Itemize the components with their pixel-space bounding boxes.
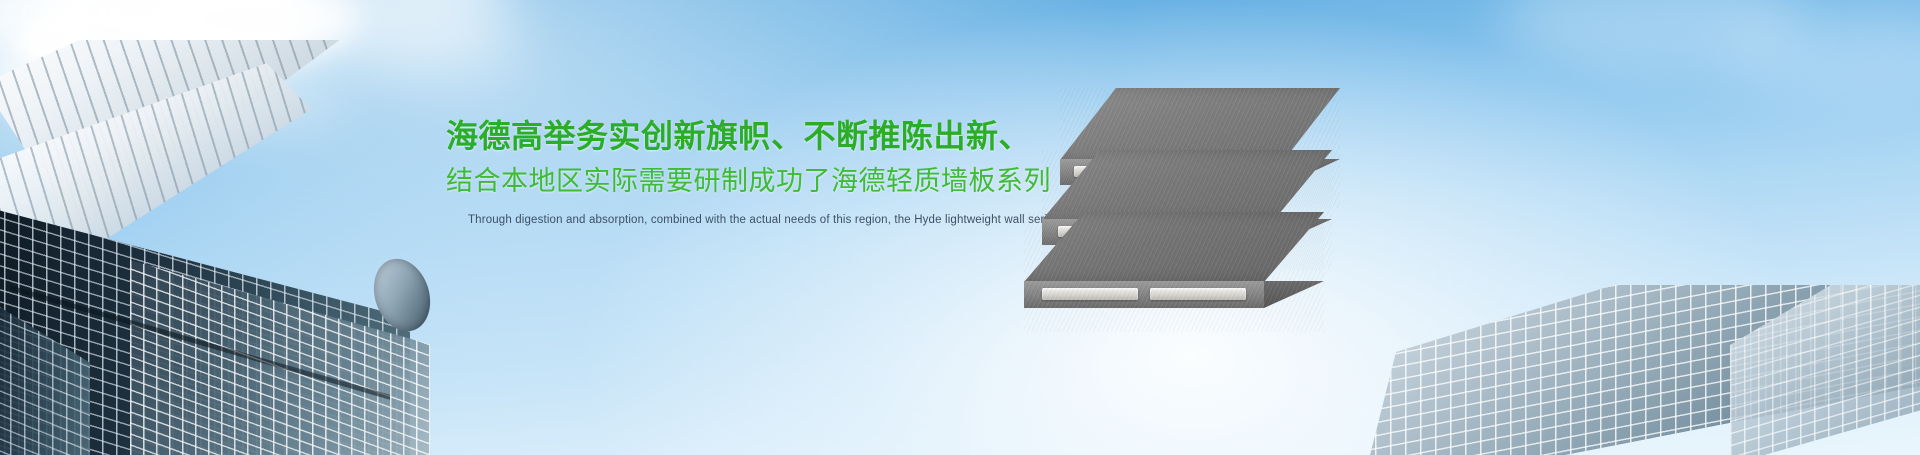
left-building — [0, 40, 500, 455]
banner-subheading: 结合本地区实际需要研制成功了海德轻质墙板系列 — [446, 165, 1046, 197]
right-building — [1330, 285, 1920, 455]
banner-text-block: 海德高举务实创新旗帜、不断推陈出新、 结合本地区实际需要研制成功了海德轻质墙板系… — [446, 118, 1046, 228]
panel-hollow-core — [1150, 288, 1246, 300]
panel-top-face — [1042, 150, 1332, 220]
banner-headline: 海德高举务实创新旗帜、不断推陈出新、 — [446, 118, 1046, 156]
panel-hollow-core — [1042, 288, 1138, 300]
banner-english-caption: Through digestion and absorption, combin… — [468, 213, 1046, 228]
product-stacked-wall-panels — [1020, 88, 1350, 328]
panel-top-face — [1024, 212, 1324, 282]
wall-panel-bottom — [1024, 212, 1324, 332]
hero-banner: 海德高举务实创新旗帜、不断推陈出新、 结合本地区实际需要研制成功了海德轻质墙板系… — [0, 0, 1920, 455]
panel-side-face — [1264, 281, 1324, 308]
